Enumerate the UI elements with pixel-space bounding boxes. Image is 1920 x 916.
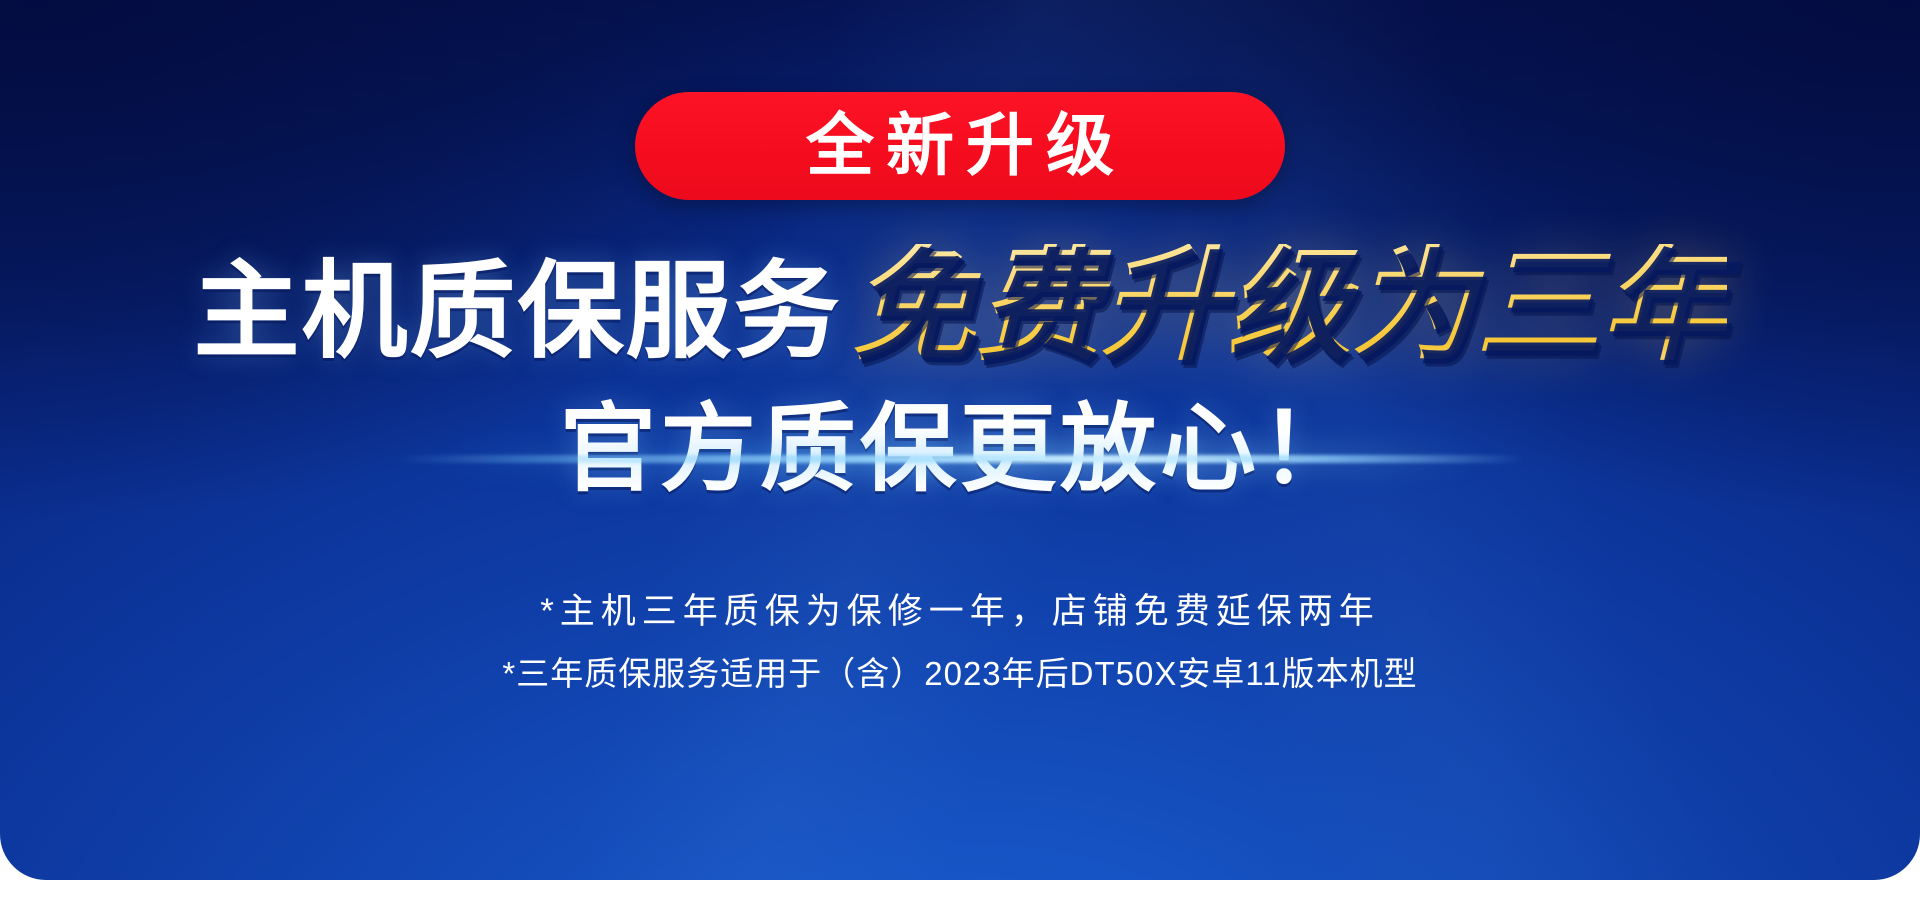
warranty-promo-banner: 全新升级 主机质保服务 免费升级为三年 官方质保更放心！ *主机三年质保为保修一… [0, 0, 1920, 880]
upgrade-badge-label: 全新升级 [794, 112, 1126, 180]
banner-content: 全新升级 主机质保服务 免费升级为三年 官方质保更放心！ *主机三年质保为保修一… [0, 0, 1920, 880]
fineprint-group: *主机三年质保为保修一年，店铺免费延保两年 *三年质保服务适用于（含）2023年… [502, 594, 1417, 690]
fineprint-line-2: *三年质保服务适用于（含）2023年后DT50X安卓11版本机型 [502, 657, 1417, 690]
fineprint-line-1: *主机三年质保为保修一年，店铺免费延保两年 [540, 594, 1380, 629]
headline-primary-gold-text: 免费升级为三年 [851, 244, 1726, 368]
headline-primary: 主机质保服务 免费升级为三年 [193, 244, 1726, 368]
headline-primary-white-text: 主机质保服务 [193, 259, 841, 365]
headline-secondary: 官方质保更放心！ [560, 402, 1360, 498]
upgrade-badge: 全新升级 [635, 92, 1285, 200]
